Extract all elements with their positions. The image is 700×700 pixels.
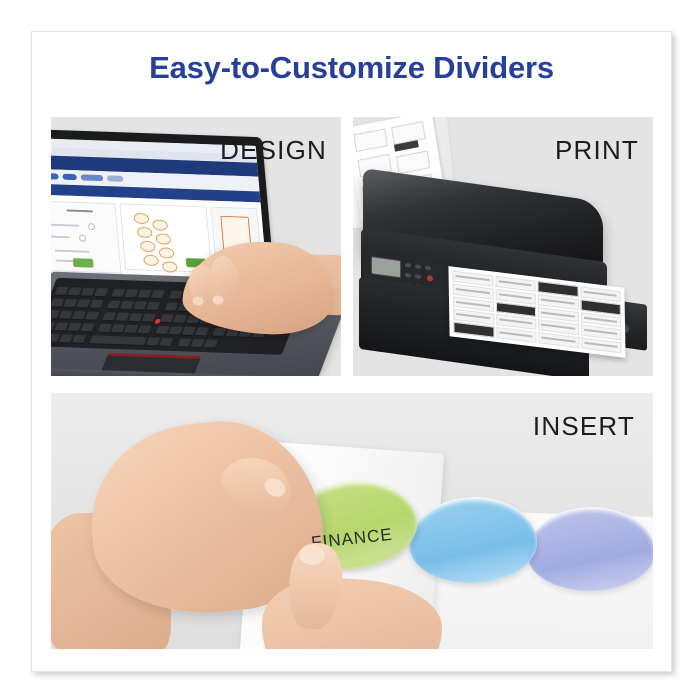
label-cell: [353, 128, 388, 152]
printer-lcd-display: [371, 256, 401, 278]
divider-tab-shape: [162, 261, 178, 272]
power-button[interactable]: [427, 275, 433, 282]
divider-tab-shape: [155, 233, 171, 244]
panel-label-insert: INSERT: [533, 411, 635, 442]
toolbar-pill: [62, 174, 77, 180]
panel-print: PRINT: [353, 117, 653, 376]
control-button[interactable]: [415, 264, 421, 269]
toolbar-pill: [81, 174, 104, 181]
product-image-card: Easy-to-Customize Dividers: [31, 31, 672, 672]
toolbar-pill: [107, 175, 124, 182]
panel-design: DESIGN: [51, 117, 341, 376]
form-label-line: [55, 250, 90, 253]
divider-tab-shape: [137, 227, 153, 238]
panel-insert: FINANCE INSERT: [51, 393, 653, 649]
divider-tab-shape: [152, 219, 168, 230]
dialog-title-line: [66, 209, 92, 212]
toolbar-pill: [51, 173, 59, 180]
divider-tab-shape: [140, 241, 156, 252]
control-button[interactable]: [425, 266, 431, 271]
template-canvas[interactable]: [119, 203, 212, 272]
form-radio[interactable]: [88, 223, 96, 230]
divider-tab-shape: [133, 213, 149, 224]
form-label-line: [51, 224, 79, 227]
form-radio[interactable]: [79, 235, 87, 242]
form-label-line: [51, 236, 70, 239]
label-cell: [396, 150, 431, 174]
dialog-confirm-button[interactable]: [73, 258, 94, 268]
control-button[interactable]: [405, 263, 411, 268]
control-button[interactable]: [415, 274, 421, 279]
divider-tab-shape: [143, 255, 159, 266]
page-title: Easy-to-Customize Dividers: [32, 50, 671, 86]
divider-tab-shape: [159, 247, 175, 258]
panel-label-design: DESIGN: [220, 135, 327, 166]
panel-label-print: PRINT: [555, 135, 639, 166]
settings-dialog: [51, 201, 121, 274]
control-button[interactable]: [405, 273, 411, 278]
